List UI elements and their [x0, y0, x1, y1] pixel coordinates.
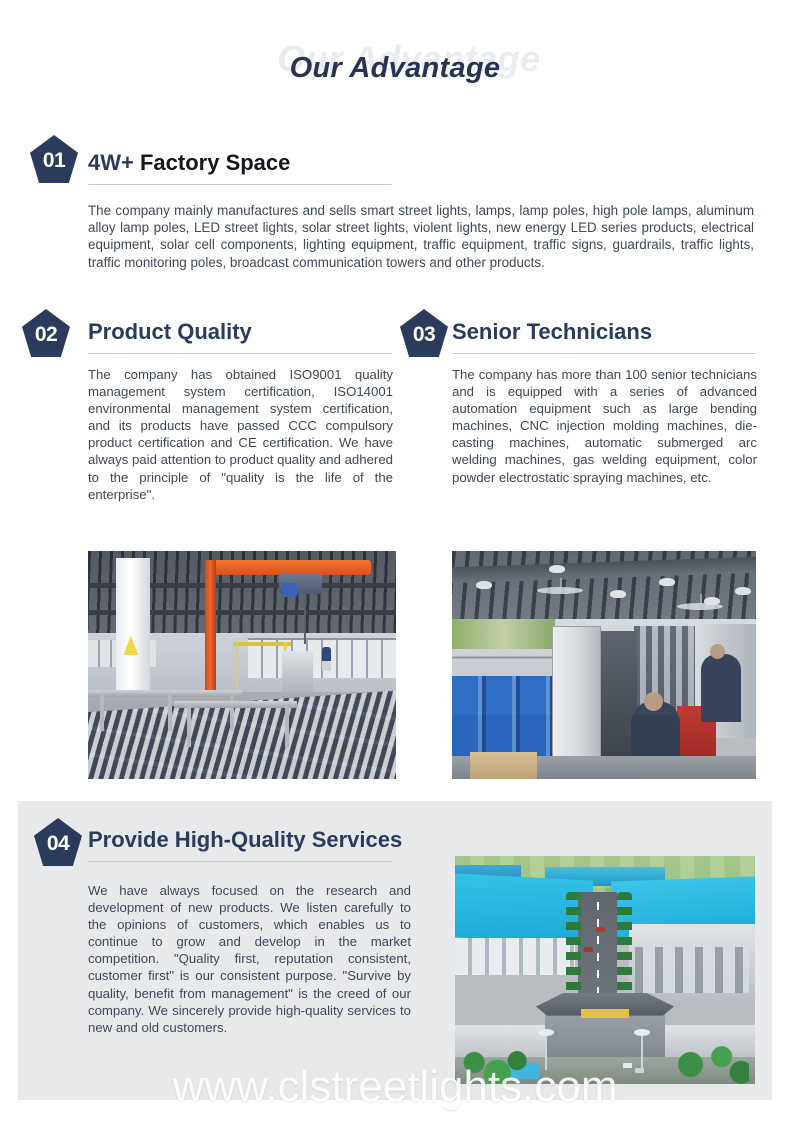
page-title: Our Advantage [0, 52, 790, 85]
section-04-image [455, 856, 755, 1084]
section-03-heading: Senior Technicians [452, 319, 652, 345]
section-04-heading: Provide High-Quality Services [88, 827, 402, 853]
section-04-divider [88, 861, 392, 862]
section-03-image [452, 551, 756, 779]
section-01-body: The company mainly manufactures and sell… [88, 202, 754, 271]
section-01-heading: 4W+ Factory Space [88, 150, 290, 176]
section-04-heading-accent: Provide High-Quality Services [88, 827, 402, 852]
section-02-body: The company has obtained ISO9001 quality… [88, 366, 393, 503]
section-03-number: 03 [400, 309, 448, 357]
section-02-heading: Product Quality [88, 319, 252, 345]
section-01-divider [88, 184, 392, 185]
section-02-image [88, 551, 396, 779]
section-02-heading-accent: Product Quality [88, 319, 252, 344]
section-03-badge: 03 [400, 309, 448, 357]
section-02-number: 02 [22, 309, 70, 357]
section-01-heading-accent: 4W+ [88, 150, 134, 175]
section-02-badge: 02 [22, 309, 70, 357]
section-04-number: 04 [34, 818, 82, 866]
section-04-badge: 04 [34, 818, 82, 866]
section-04-body: We have always focused on the research a… [88, 882, 411, 1036]
page-title-block: Our Advantage Our Advantage [0, 0, 790, 118]
section-03-body: The company has more than 100 senior tec… [452, 366, 757, 486]
section-02-divider [88, 353, 392, 354]
section-01-heading-plain: Factory Space [140, 150, 290, 175]
section-03-heading-accent: Senior Technicians [452, 319, 652, 344]
section-01-number: 01 [30, 135, 78, 183]
section-01-badge: 01 [30, 135, 78, 183]
section-03-divider [452, 353, 756, 354]
